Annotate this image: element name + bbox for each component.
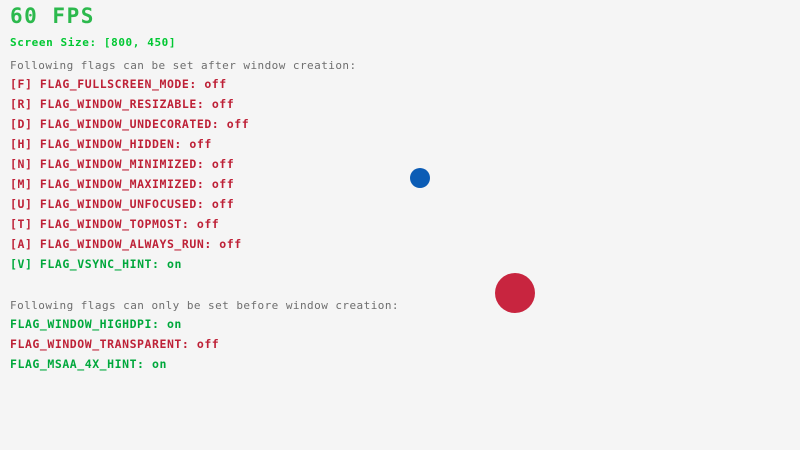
flag-row[interactable]: [R] FLAG_WINDOW_RESIZABLE: off [10,99,234,111]
raylib-window-canvas: 60 FPS Screen Size: [800, 450] Following… [0,0,800,450]
fps-counter: 60 FPS [10,6,95,27]
flag-hotkey: [H] [10,137,40,151]
flag-name: FLAG_WINDOW_TOPMOST: [40,217,197,231]
flag-hotkey: [R] [10,97,40,111]
flag-name: FLAG_WINDOW_HIGHDPI: [10,317,167,331]
flag-hotkey: [V] [10,257,40,271]
flag-row[interactable]: [M] FLAG_WINDOW_MAXIMIZED: off [10,179,234,191]
flag-value: off [204,77,226,91]
flag-name: FLAG_MSAA_4X_HINT: [10,357,152,371]
flag-hotkey: [T] [10,217,40,231]
flag-value: on [167,317,182,331]
bouncing-ball-red [495,273,535,313]
flag-name: FLAG_WINDOW_HIDDEN: [40,137,189,151]
flag-value: off [212,157,234,171]
screen-size-label: Screen Size: [800, 450] [10,37,176,48]
flag-name: FLAG_WINDOW_RESIZABLE: [40,97,212,111]
flag-name: FLAG_WINDOW_MINIMIZED: [40,157,212,171]
flag-value: off [197,337,219,351]
flag-name: FLAG_WINDOW_MAXIMIZED: [40,177,212,191]
flag-name: FLAG_FULLSCREEN_MODE: [40,77,204,91]
flag-value: off [227,117,249,131]
flag-name: FLAG_VSYNC_HINT: [40,257,167,271]
flag-row[interactable]: FLAG_WINDOW_HIGHDPI: on [10,319,182,331]
flag-row[interactable]: FLAG_WINDOW_TRANSPARENT: off [10,339,219,351]
flag-hotkey: [M] [10,177,40,191]
flag-value: on [167,257,182,271]
flag-row[interactable]: [H] FLAG_WINDOW_HIDDEN: off [10,139,212,151]
flag-value: off [197,217,219,231]
bouncing-ball-blue [410,168,430,188]
heading-flags-before-creation: Following flags can only be set before w… [10,300,399,311]
flag-name: FLAG_WINDOW_UNFOCUSED: [40,197,212,211]
flag-name: FLAG_WINDOW_UNDECORATED: [40,117,227,131]
flag-row[interactable]: [A] FLAG_WINDOW_ALWAYS_RUN: off [10,239,242,251]
flag-name: FLAG_WINDOW_TRANSPARENT: [10,337,197,351]
flag-row[interactable]: [D] FLAG_WINDOW_UNDECORATED: off [10,119,249,131]
flag-hotkey: [N] [10,157,40,171]
flag-name: FLAG_WINDOW_ALWAYS_RUN: [40,237,219,251]
flag-value: off [189,137,211,151]
flag-hotkey: [F] [10,77,40,91]
flag-hotkey: [D] [10,117,40,131]
flag-row[interactable]: [F] FLAG_FULLSCREEN_MODE: off [10,79,227,91]
flag-value: on [152,357,167,371]
flag-value: off [212,97,234,111]
flag-row[interactable]: [T] FLAG_WINDOW_TOPMOST: off [10,219,219,231]
flag-row[interactable]: [V] FLAG_VSYNC_HINT: on [10,259,182,271]
flag-row[interactable]: [N] FLAG_WINDOW_MINIMIZED: off [10,159,234,171]
flag-value: off [212,197,234,211]
heading-flags-after-creation: Following flags can be set after window … [10,60,357,71]
flag-row[interactable]: FLAG_MSAA_4X_HINT: on [10,359,167,371]
flag-value: off [219,237,241,251]
flag-hotkey: [A] [10,237,40,251]
flag-row[interactable]: [U] FLAG_WINDOW_UNFOCUSED: off [10,199,234,211]
flag-hotkey: [U] [10,197,40,211]
flag-value: off [212,177,234,191]
